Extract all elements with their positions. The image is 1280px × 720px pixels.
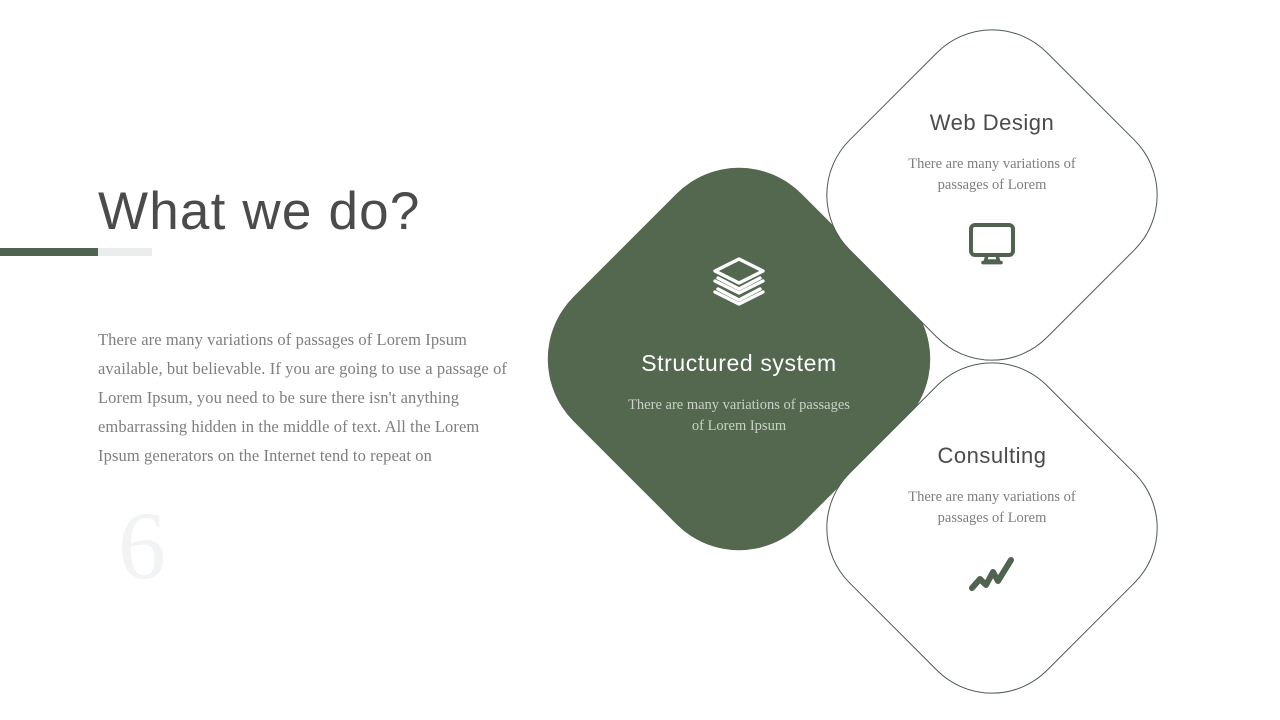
- page-title: What we do?: [98, 183, 421, 241]
- card-title: Web Design: [930, 112, 1054, 134]
- card-title: Structured system: [641, 352, 837, 375]
- monitor-icon: [968, 222, 1016, 266]
- slide-canvas: What we do? There are many variations of…: [0, 0, 1280, 720]
- body-paragraph: There are many variations of passages of…: [98, 325, 516, 470]
- title-divider: [0, 248, 152, 256]
- layers-icon: [711, 256, 767, 308]
- page-number: 6: [118, 498, 166, 594]
- card-description: There are many variations of passages of…: [624, 395, 854, 437]
- card-consulting[interactable]: Consulting There are many variations of …: [794, 330, 1190, 720]
- title-divider-accent: [0, 248, 98, 256]
- card-title: Consulting: [938, 445, 1047, 467]
- card-description: There are many variations of passages of…: [892, 154, 1092, 196]
- trend-chart-icon: [967, 555, 1017, 595]
- left-content-column: What we do? There are many variations of…: [0, 0, 560, 720]
- card-description: There are many variations of passages of…: [892, 487, 1092, 529]
